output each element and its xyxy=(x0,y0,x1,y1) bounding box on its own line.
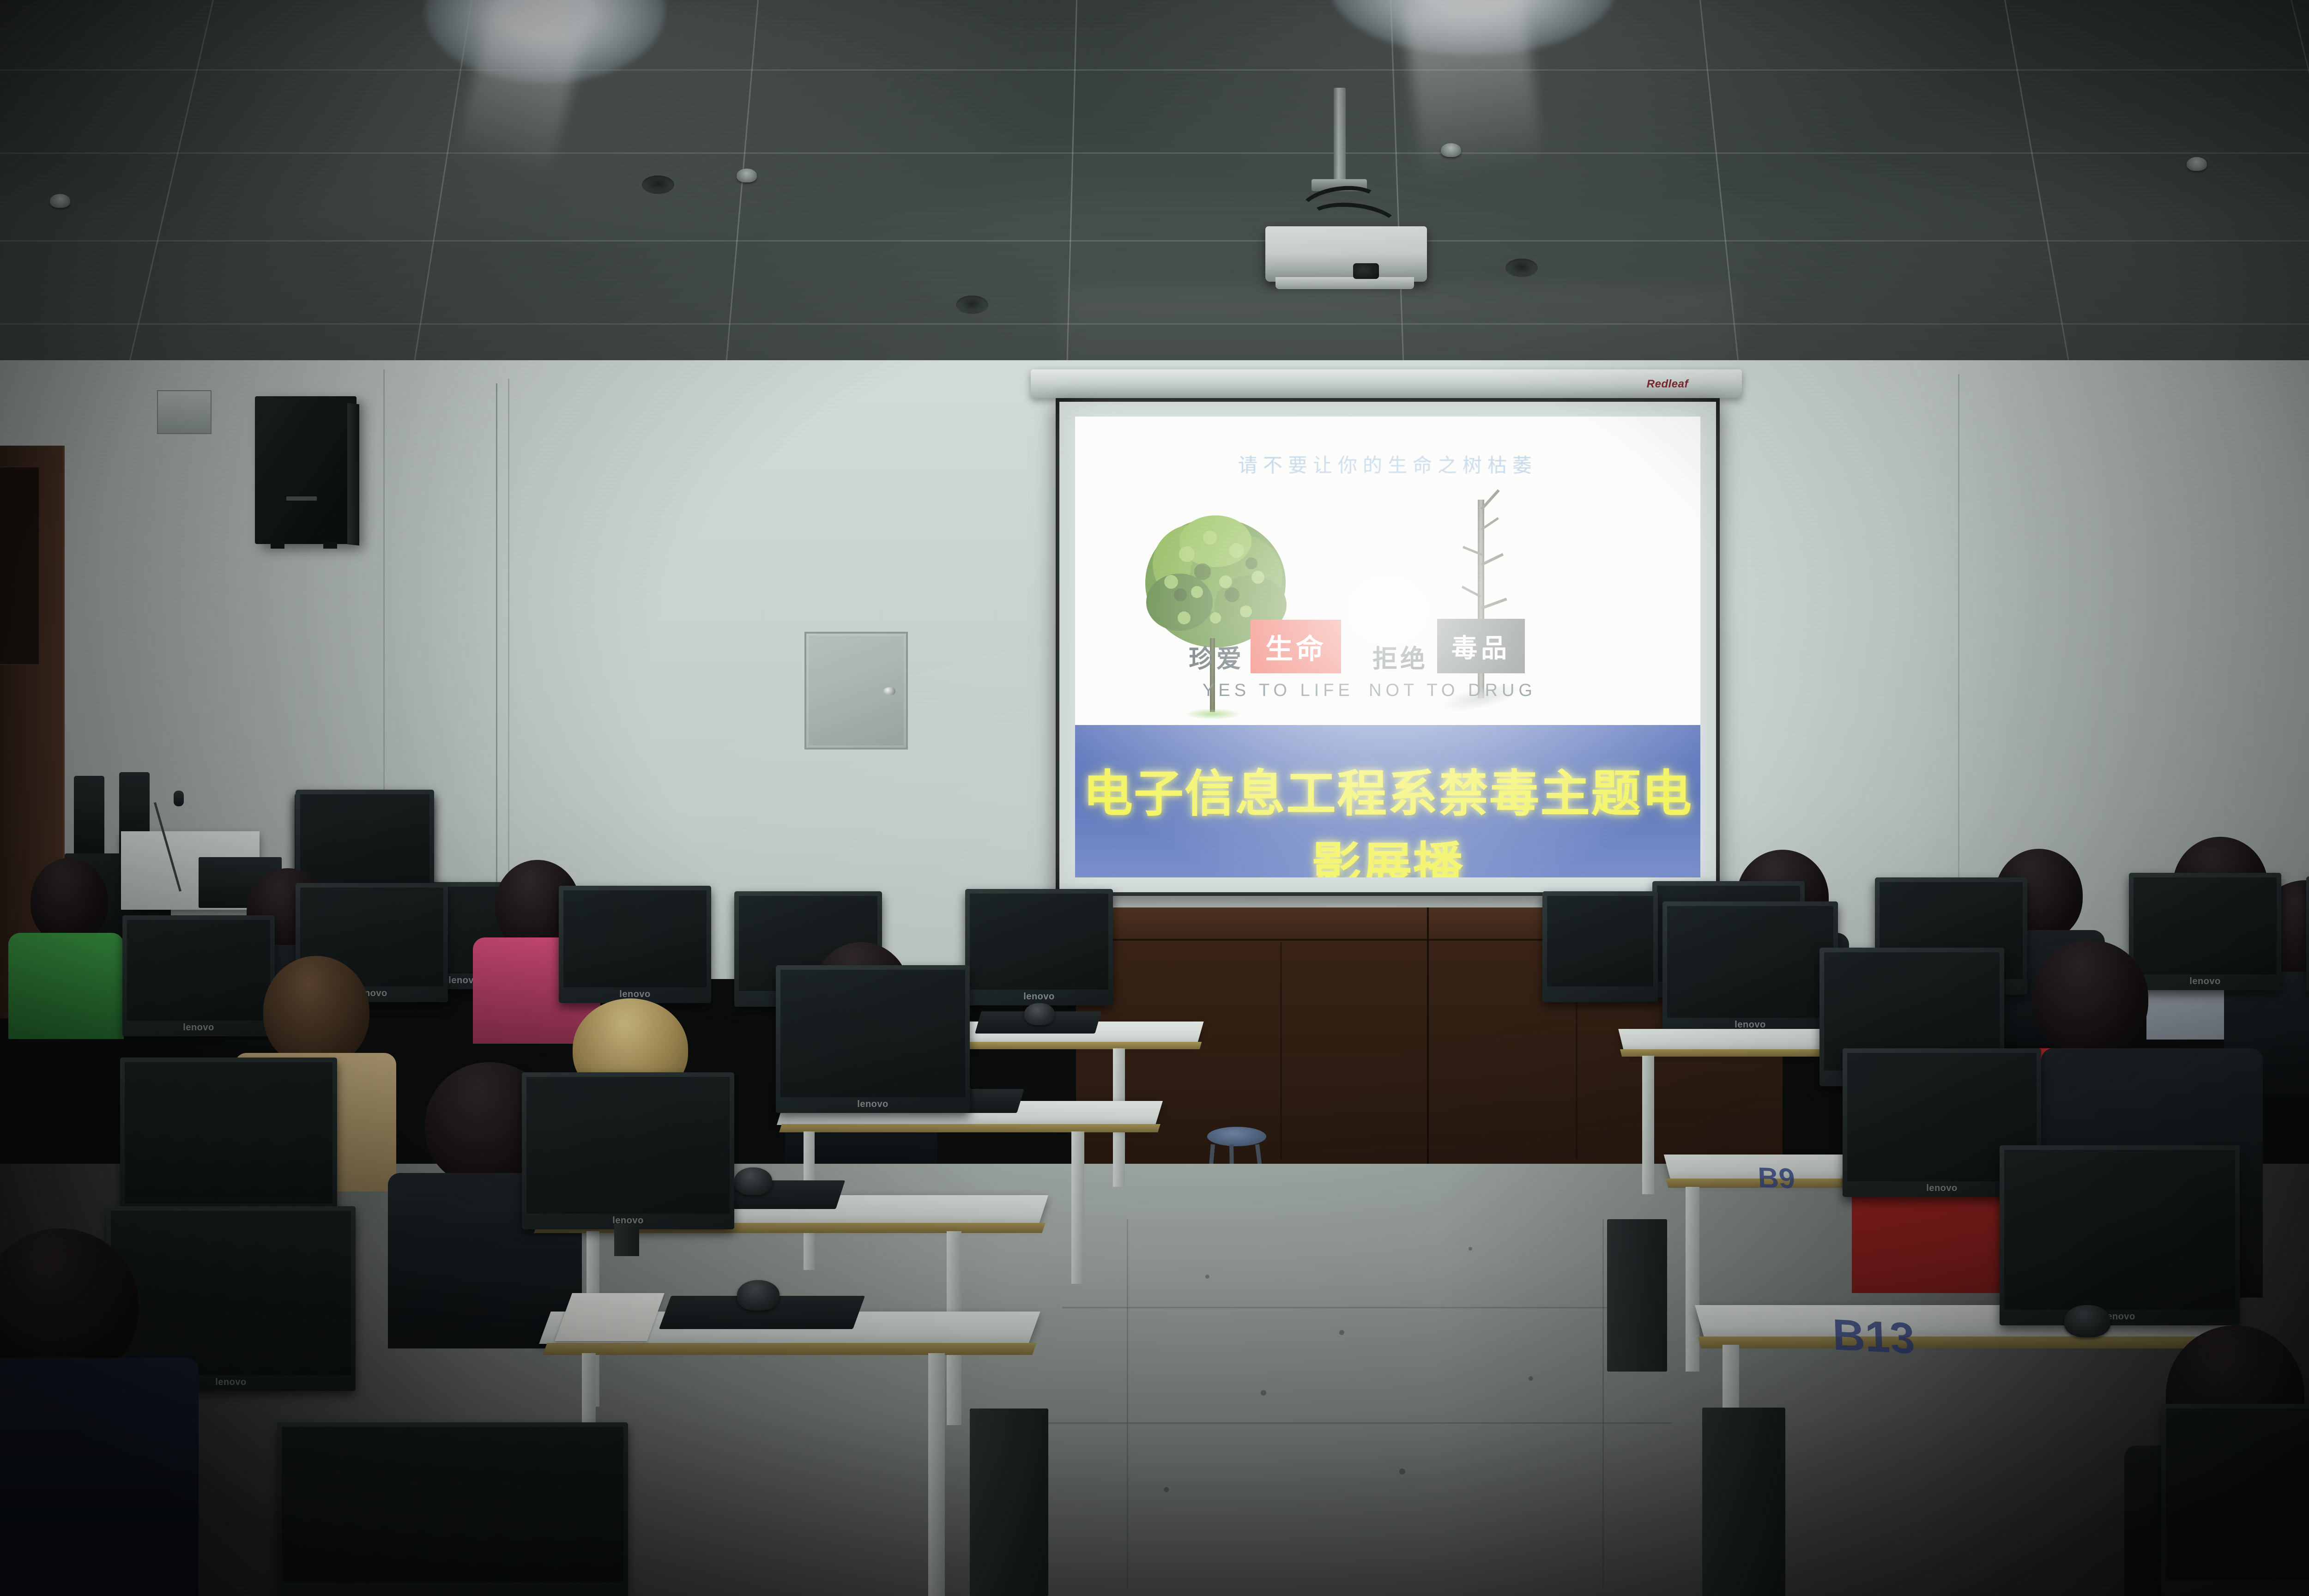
slogan-right-en: NOT TO DRUG xyxy=(1369,681,1536,701)
slide-banner: 电子信息工程系禁毒主题电影展播 xyxy=(1075,725,1700,877)
pc-tower xyxy=(970,1409,1048,1596)
monitor: lenovo xyxy=(522,1072,734,1229)
wall-speaker-side xyxy=(347,403,359,546)
slogan-right-cn: 拒绝 xyxy=(1372,638,1428,675)
wall-speaker xyxy=(255,396,357,544)
pc-tower xyxy=(1702,1408,1785,1596)
sprinkler-head-1 xyxy=(50,194,70,208)
tree-ground-shadow xyxy=(1185,708,1241,719)
monitor-brand-logo: lenovo xyxy=(215,1377,246,1388)
monitor: lenovo xyxy=(965,889,1113,1005)
monitor xyxy=(1542,891,1658,1002)
person-head xyxy=(263,956,369,1067)
monitor: lenovo xyxy=(120,1058,337,1219)
monitor xyxy=(277,1422,628,1596)
slogan-left-chip: 生命 xyxy=(1251,620,1341,673)
monitor-brand-logo: lenovo xyxy=(1926,1183,1957,1194)
slide-heading: 请不要让你的生命之树枯萎 xyxy=(1075,450,1700,478)
mouse[interactable] xyxy=(734,1167,772,1195)
monitor-brand-logo: lenovo xyxy=(2189,976,2220,987)
desk-number-label: B9 xyxy=(1753,1161,1798,1196)
screen-brand-label: Redleaf xyxy=(1647,378,1688,391)
projection-screen-border: 请不要让你的生命之树枯萎 xyxy=(1059,402,1716,892)
projector-base-lip xyxy=(1275,277,1414,289)
mouse[interactable] xyxy=(2064,1305,2110,1337)
wall-vent-icon xyxy=(157,390,212,434)
monitor xyxy=(2306,877,2309,992)
person-head xyxy=(30,858,108,944)
slogan-left-en: YES TO LIFE xyxy=(1203,681,1354,701)
slide-banner-title: 电子信息工程系禁毒主题电影展播 xyxy=(1075,754,1700,877)
monitor: lenovo xyxy=(559,886,711,1003)
monitor-brand-logo: lenovo xyxy=(857,1099,888,1110)
paper-sheet xyxy=(555,1293,665,1341)
monitor: lenovo xyxy=(2129,873,2281,990)
utility-panel-latch-icon[interactable] xyxy=(883,687,895,695)
person-head xyxy=(2033,940,2148,1056)
sprinkler-head-4 xyxy=(2187,157,2207,171)
projection-screen-roller[interactable]: Redleaf xyxy=(1031,369,1742,398)
projector-lens-icon xyxy=(1353,263,1379,279)
presentation-slide: 请不要让你的生命之树枯萎 xyxy=(1075,417,1700,877)
sprinkler-head-2 xyxy=(737,169,757,182)
ceiling-vent-icon-2 xyxy=(956,296,988,314)
mouse[interactable] xyxy=(737,1280,780,1311)
monitor: lenovo xyxy=(776,965,970,1113)
monitor: lenovo xyxy=(122,915,275,1036)
ceiling-vent-icon xyxy=(642,175,674,194)
projection-screen: 请不要让你的生命之树枯萎 xyxy=(1056,398,1720,896)
slogan-left-cn: 珍爱 xyxy=(1189,638,1244,675)
wall-speaker-badge xyxy=(286,496,317,501)
pc-tower xyxy=(1607,1219,1667,1372)
monitor-foreground-right xyxy=(2161,1404,2309,1596)
slogan-right-chip: 毒品 xyxy=(1437,619,1525,673)
ceiling-vent-icon-3 xyxy=(1505,259,1538,277)
monitor: lenovo xyxy=(2000,1145,2240,1325)
podium-speaker-left xyxy=(74,776,104,864)
stool[interactable] xyxy=(1207,1127,1266,1146)
ceiling xyxy=(0,0,2309,388)
microphone-icon xyxy=(174,791,184,806)
slide-artwork: 珍爱 生命 YES TO LIFE 拒绝 毒品 NOT TO DRUG xyxy=(1075,500,1700,749)
monitor: lenovo xyxy=(1662,901,1838,1034)
door-window-panel xyxy=(0,466,40,665)
classroom-photo: Redleaf 请不要让你的生命之树枯萎 xyxy=(0,0,2309,1596)
desk-number-label: B13 xyxy=(1826,1309,1920,1364)
person-body-foreground xyxy=(0,1358,199,1596)
sprinkler-head-3 xyxy=(1441,143,1461,157)
monitor-brand-logo: lenovo xyxy=(1023,991,1054,1002)
monitor-brand-logo: lenovo xyxy=(183,1022,214,1033)
mouse[interactable] xyxy=(1024,1003,1055,1025)
projector-mount-pole xyxy=(1334,88,1346,180)
projector xyxy=(1265,226,1427,282)
person-body xyxy=(8,933,124,1039)
